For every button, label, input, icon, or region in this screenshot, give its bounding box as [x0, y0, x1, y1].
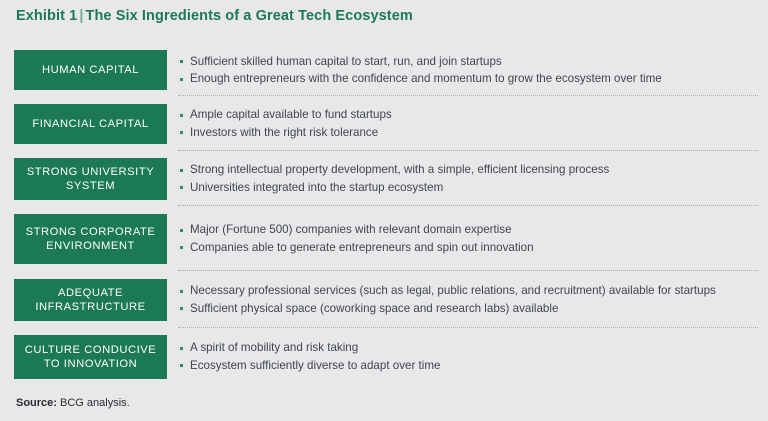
ingredient-bullets: A spirit of mobility and risk taking Eco… [167, 328, 768, 385]
bullet-item: Companies able to generate entrepreneurs… [179, 239, 758, 257]
ingredient-label-cell: ADEQUATE INFRASTRUCTURE [0, 271, 167, 328]
ingredient-label-adequate-infrastructure[interactable]: ADEQUATE INFRASTRUCTURE [14, 279, 167, 321]
ingredient-row: ADEQUATE INFRASTRUCTURE Necessary profes… [0, 271, 768, 328]
bullet-item: Necessary professional services (such as… [179, 282, 758, 300]
bullet-item: Major (Fortune 500) companies with relev… [179, 221, 758, 239]
ingredient-bullets: Sufficient skilled human capital to star… [167, 44, 768, 96]
ingredient-label-cell: STRONG UNIVERSITY SYSTEM [0, 151, 167, 206]
ingredient-label-human-capital[interactable]: HUMAN CAPITAL [14, 50, 167, 90]
ingredient-label-cell: HUMAN CAPITAL [0, 44, 167, 96]
ingredient-label-cell: STRONG CORPORATE ENVIRONMENT [0, 206, 167, 271]
ingredient-label-strong-university-system[interactable]: STRONG UNIVERSITY SYSTEM [14, 158, 167, 200]
bullet-item: Strong intellectual property development… [179, 161, 758, 179]
source-note: Source: BCG analysis. [16, 397, 130, 409]
ingredient-row: FINANCIAL CAPITAL Ample capital availabl… [0, 96, 768, 151]
bullet-item: Universities integrated into the startup… [179, 179, 758, 197]
ingredient-bullets: Strong intellectual property development… [167, 151, 768, 206]
bullet-item: Enough entrepreneurs with the confidence… [179, 70, 758, 88]
bullet-item: Ecosystem sufficiently diverse to adapt … [179, 357, 758, 375]
ingredient-label-cell: CULTURE CONDUCIVE TO INNOVATION [0, 328, 167, 385]
bullet-item: Ample capital available to fund startups [179, 106, 758, 124]
bullet-item: Sufficient skilled human capital to star… [179, 53, 758, 71]
bullet-item: Sufficient physical space (coworking spa… [179, 300, 758, 318]
exhibit-title: Exhibit 1|The Six Ingredients of a Great… [16, 8, 413, 24]
title-separator: | [77, 8, 85, 24]
source-label: Source: [16, 397, 57, 409]
ingredient-row: STRONG UNIVERSITY SYSTEM Strong intellec… [0, 151, 768, 206]
bullet-item: A spirit of mobility and risk taking [179, 339, 758, 357]
ingredient-bullets: Ample capital available to fund startups… [167, 96, 768, 151]
ingredient-row: HUMAN CAPITAL Sufficient skilled human c… [0, 44, 768, 96]
ingredient-row: STRONG CORPORATE ENVIRONMENT Major (Fort… [0, 206, 768, 271]
ingredient-label-culture-conducive-to-innovation[interactable]: CULTURE CONDUCIVE TO INNOVATION [14, 335, 167, 379]
ingredient-label-financial-capital[interactable]: FINANCIAL CAPITAL [14, 104, 167, 144]
ingredient-label-strong-corporate-environment[interactable]: STRONG CORPORATE ENVIRONMENT [14, 214, 167, 264]
ingredient-row: CULTURE CONDUCIVE TO INNOVATION A spirit… [0, 328, 768, 385]
bullet-item: Investors with the right risk tolerance [179, 124, 758, 142]
ingredient-bullets: Major (Fortune 500) companies with relev… [167, 206, 768, 271]
ingredient-bullets: Necessary professional services (such as… [167, 271, 768, 328]
exhibit-container: Exhibit 1|The Six Ingredients of a Great… [0, 0, 768, 421]
exhibit-title-text: The Six Ingredients of a Great Tech Ecos… [86, 8, 413, 24]
ingredient-label-cell: FINANCIAL CAPITAL [0, 96, 167, 151]
ingredient-rows: HUMAN CAPITAL Sufficient skilled human c… [0, 44, 768, 385]
source-text: BCG analysis. [60, 397, 130, 409]
exhibit-number: Exhibit 1 [16, 8, 77, 24]
